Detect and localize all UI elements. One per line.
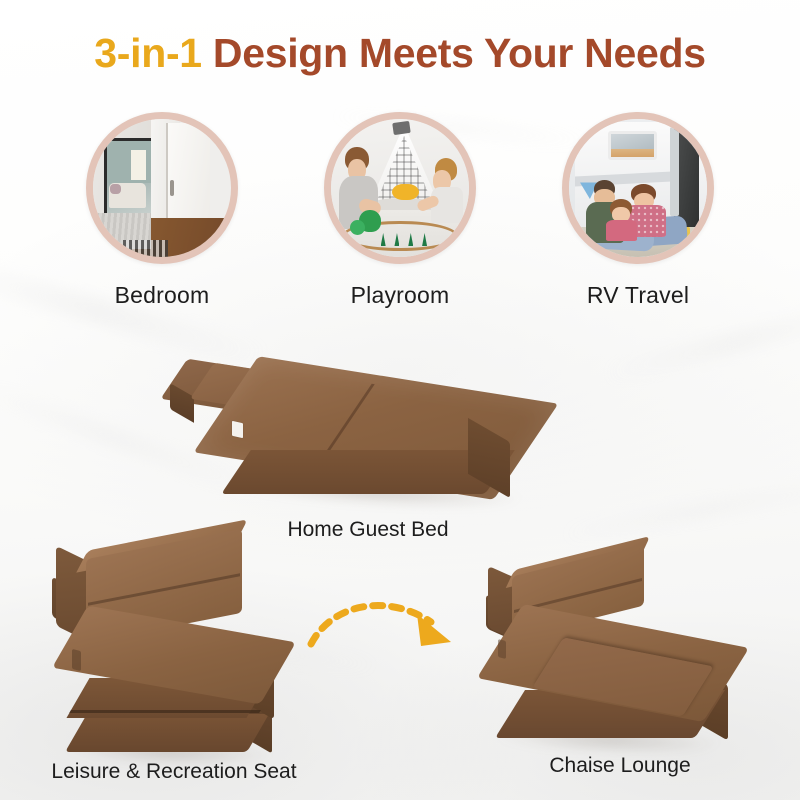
backdrop-sheen (561, 474, 800, 544)
bedroom-patterned-rug (123, 240, 167, 257)
playroom-mother-child-photo (331, 119, 469, 257)
use-case-scene-row: Bedroom (0, 112, 800, 309)
scene-bedroom-circle (86, 112, 238, 264)
product-home-guest-bed: Home Guest Bed (168, 358, 568, 538)
scene-rv-travel-circle (562, 112, 714, 264)
scene-bedroom: Bedroom (77, 112, 247, 309)
arrow-head (417, 614, 451, 646)
playroom-yellow-cushion (392, 184, 420, 201)
scene-rv-travel: RV Travel (553, 112, 723, 309)
playroom-tent-poles (392, 121, 410, 136)
chaise-label: Chaise Lounge (470, 754, 770, 778)
rv-window (608, 131, 658, 160)
seat-label: Leisure & Recreation Seat (34, 760, 314, 784)
seat-base-seam (69, 710, 261, 713)
chaise-carry-handle (498, 639, 506, 659)
bedroom-door-handle (170, 180, 174, 196)
seat-carry-handle (72, 649, 81, 671)
scene-playroom: Playroom (315, 112, 485, 309)
scene-playroom-circle (324, 112, 476, 264)
rv-door-window (670, 127, 680, 215)
product-chaise-lounge: Chaise Lounge (470, 548, 770, 790)
page-title-main: Design Meets Your Needs (213, 30, 706, 76)
rv-family-photo (569, 119, 707, 257)
mirror-reflected-pillow (110, 184, 121, 194)
mirror-reflected-window (131, 150, 146, 180)
scene-rv-travel-label: RV Travel (587, 282, 689, 309)
seat-base-front (65, 714, 269, 752)
product-recreation-seat: Leisure & Recreation Seat (34, 538, 314, 790)
scene-playroom-label: Playroom (351, 282, 450, 309)
backdrop-sheen (601, 296, 800, 385)
daughter-shirt (606, 220, 638, 241)
scene-bedroom-label: Bedroom (115, 282, 210, 309)
page-title-accent: 3-in-1 (94, 30, 202, 76)
transform-arrow-icon (305, 588, 465, 658)
bedroom-mirror (104, 138, 154, 215)
rv-daughter-figure (605, 199, 638, 251)
guest-bed-fabric-tag (232, 421, 243, 438)
infographic-page: 3-in-1 Design Meets Your Needs (0, 0, 800, 800)
arrow-dashed-curve (311, 606, 431, 644)
transform-arrow (305, 588, 465, 658)
rv-window-reflection (611, 149, 655, 158)
page-title: 3-in-1 Design Meets Your Needs (0, 26, 800, 80)
bedroom-interior-photo (93, 119, 231, 257)
